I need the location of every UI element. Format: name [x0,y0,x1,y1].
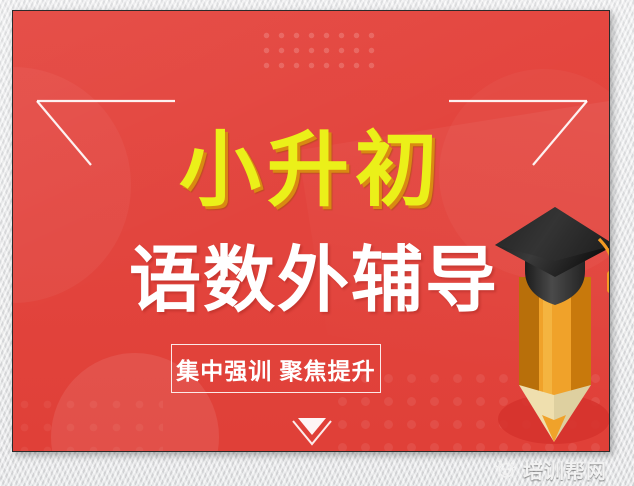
headline-sub: 语数外辅导 [19,239,609,323]
watermark: 培训帮网 [495,456,607,482]
watermark-text: 培训帮网 [523,455,607,484]
sun-face-icon [495,458,517,480]
promo-banner: 小升初 语数外辅导 集中强训 聚焦提升 [12,10,610,452]
dot-grid-top [259,28,377,74]
page-background: 小升初 语数外辅导 集中强训 聚焦提升 培训帮网 [0,0,634,486]
pencil-with-graduation-cap-icon [491,199,610,451]
headline-main: 小升初 [13,123,609,219]
tagline-text: 集中强训 聚焦提升 [176,352,375,386]
dot-grid-bottom-left [13,393,163,452]
tagline-box: 集中强训 聚焦提升 [171,344,381,393]
chevron-down-icon [289,411,335,451]
